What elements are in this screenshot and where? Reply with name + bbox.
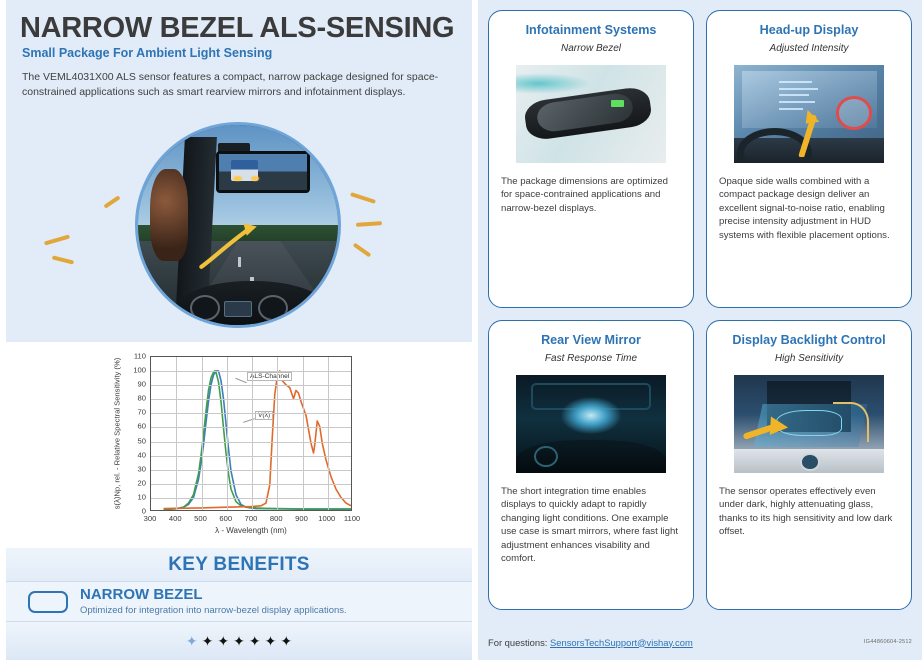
chart-gridline-h <box>151 498 351 499</box>
chart-gridline-v <box>252 357 253 510</box>
chart-gridline-h <box>151 442 351 443</box>
footer-question-label: For questions: <box>488 637 547 648</box>
intro-paragraph: The VEML4031X00 ALS sensor features a co… <box>22 70 442 100</box>
key-benefits-title: KEY BENEFITS <box>168 554 310 576</box>
photo-speed-limit-ring <box>836 96 872 129</box>
chart-plot-area: ALS-Channel V(λ) <box>150 356 352 511</box>
chart-x-tick-label: 300 <box>144 514 157 523</box>
chart-x-tick-label: 900 <box>295 514 308 523</box>
chart-annotation-als: ALS-Channel <box>247 372 292 381</box>
key-benefit-desc: Optimized for integration into narrow-be… <box>80 604 347 617</box>
card-image-backlight <box>734 375 884 473</box>
hero-headlight <box>251 176 260 180</box>
document-code: IG44860604-2512 <box>864 639 912 645</box>
card-title: Infotainment Systems <box>526 23 657 37</box>
chart-gridline-h <box>151 456 351 457</box>
use-case-cards: Infotainment Systems Narrow Bezel The pa… <box>488 10 912 610</box>
spectral-sensitivity-chart: s(λ)Np, rel. - Relative Spectral Sensiti… <box>112 352 362 537</box>
hero-cluster-display <box>224 301 252 317</box>
star-icon: ✦ <box>202 634 214 648</box>
chart-gridline-h <box>151 484 351 485</box>
card-title: Display Backlight Control <box>732 333 885 347</box>
photo-gauge <box>534 446 558 468</box>
hero-gauge <box>190 295 220 321</box>
poster-page: NARROW BEZEL ALS-SENSING Small Package F… <box>0 0 922 660</box>
chart-gridline-h <box>151 427 351 428</box>
left-panel: NARROW BEZEL ALS-SENSING Small Package F… <box>0 0 478 660</box>
hero-lane-mark <box>238 257 241 267</box>
card-description: The sensor operates effectively even und… <box>719 485 899 539</box>
chart-y-tick-label: 70 <box>138 408 146 417</box>
photo-knob <box>800 453 820 471</box>
chart-gridline-h <box>151 399 351 400</box>
card-image-hud <box>734 65 884 163</box>
chart-x-axis-label: λ - Wavelength (nm) <box>150 526 352 535</box>
card-image-rear-view-mirror <box>516 65 666 163</box>
hero-image <box>135 122 341 328</box>
footer-question: For questions: SensorsTechSupport@vishay… <box>488 637 693 648</box>
chart-y-tick-label: 100 <box>133 366 146 375</box>
star-divider: ✦✦✦✦✦✦✦ <box>6 622 472 660</box>
card-subtitle: Fast Response Time <box>545 353 637 364</box>
hero-mirror-view <box>219 154 307 190</box>
chart-y-tick-label: 90 <box>138 380 146 389</box>
chart-y-tick-label: 20 <box>138 478 146 487</box>
chart-series-als-channel <box>164 371 351 509</box>
hero-gauge <box>258 295 288 321</box>
chart-x-tick-label: 1100 <box>344 514 360 523</box>
photo-green-indicator <box>611 100 625 107</box>
chart-gridline-v <box>176 357 177 510</box>
photo-hud-line <box>779 88 818 90</box>
photo-signal-waves <box>833 402 869 441</box>
chart-gridline-v <box>227 357 228 510</box>
photo-hud-line <box>779 101 815 103</box>
card-image-dark-mirror <box>516 375 666 473</box>
chart-gridline-v <box>277 357 278 510</box>
page-title: NARROW BEZEL ALS-SENSING <box>20 12 454 45</box>
chart-gridline-v <box>303 357 304 510</box>
chart-gridline-h <box>151 470 351 471</box>
right-panel: Infotainment Systems Narrow Bezel The pa… <box>478 0 922 660</box>
key-benefit-name: NARROW BEZEL <box>80 587 347 603</box>
card-subtitle: High Sensitivity <box>775 353 843 364</box>
footer: For questions: SensorsTechSupport@vishay… <box>488 624 912 660</box>
chart-y-tick-label: 60 <box>138 422 146 431</box>
chart-y-tick-label: 10 <box>138 492 146 501</box>
star-icon: ✦ <box>233 634 245 648</box>
card-display-backlight-control[interactable]: Display Backlight Control High Sensitivi… <box>706 320 912 610</box>
photo-teal-blur <box>516 73 591 95</box>
card-description: Opaque side walls combined with a compac… <box>719 175 899 242</box>
star-icon: ✦ <box>265 634 277 648</box>
support-email-link[interactable]: SensorsTechSupport@vishay.com <box>550 637 693 648</box>
photo-arrow-icon <box>743 414 794 443</box>
chart-x-tick-label: 700 <box>245 514 258 523</box>
key-benefit-row: NARROW BEZEL Optimized for integration i… <box>6 582 472 622</box>
hero-headlight <box>233 176 242 180</box>
card-rear-view-mirror[interactable]: Rear View Mirror Fast Response Time The … <box>488 320 694 610</box>
chart-y-tick-label: 110 <box>134 352 146 361</box>
card-title: Rear View Mirror <box>541 333 641 347</box>
chart-y-ticks: 0102030405060708090100110 <box>124 352 149 514</box>
star-icon: ✦ <box>217 634 229 648</box>
chart-annotation-vlambda: V(λ) <box>255 411 273 420</box>
star-icon: ✦ <box>280 634 292 648</box>
chart-y-tick-label: 30 <box>138 464 146 473</box>
page-subtitle: Small Package For Ambient Light Sensing <box>22 46 272 60</box>
chart-gridline-v <box>202 357 203 510</box>
card-head-up-display[interactable]: Head-up Display Adjusted Intensity <box>706 10 912 308</box>
hero-driver <box>150 169 188 261</box>
card-subtitle: Adjusted Intensity <box>770 43 849 54</box>
chart-y-axis-label: s(λ)Np, rel. - Relative Spectral Sensiti… <box>110 352 124 514</box>
chart-gridline-h <box>151 371 351 372</box>
chart-gridline-h <box>151 413 351 414</box>
card-title: Head-up Display <box>760 23 859 37</box>
chart-x-tick-label: 1000 <box>318 514 335 523</box>
card-description: The package dimensions are optimized for… <box>501 175 681 215</box>
chart-y-tick-label: 40 <box>138 450 146 459</box>
chart-x-ticks: 30040050060070080090010001100 <box>150 514 352 526</box>
chart-y-tick-label: 80 <box>138 394 146 403</box>
hero-smart-mirror <box>216 151 310 193</box>
chart-x-tick-label: 800 <box>270 514 283 523</box>
narrow-bezel-icon <box>28 591 68 613</box>
star-icon: ✦ <box>249 634 261 648</box>
star-icon: ✦ <box>186 634 198 648</box>
chart-gridline-h <box>151 385 351 386</box>
card-description: The short integration time enables displ… <box>501 485 681 565</box>
card-infotainment-systems[interactable]: Infotainment Systems Narrow Bezel The pa… <box>488 10 694 308</box>
chart-series-ir-channel <box>164 371 351 509</box>
card-subtitle: Narrow Bezel <box>561 43 621 54</box>
chart-x-tick-label: 400 <box>169 514 182 523</box>
photo-hud-line <box>779 94 809 96</box>
photo-light-glow <box>561 397 621 434</box>
chart-x-tick-label: 600 <box>219 514 232 523</box>
key-benefits-header: KEY BENEFITS <box>6 548 472 582</box>
chart-y-tick-label: 50 <box>138 436 146 445</box>
photo-hud-line <box>779 81 812 83</box>
chart-series-v- <box>164 371 351 510</box>
chart-x-tick-label: 500 <box>194 514 207 523</box>
photo-arrow-icon <box>788 108 839 157</box>
chart-gridline-v <box>328 357 329 510</box>
